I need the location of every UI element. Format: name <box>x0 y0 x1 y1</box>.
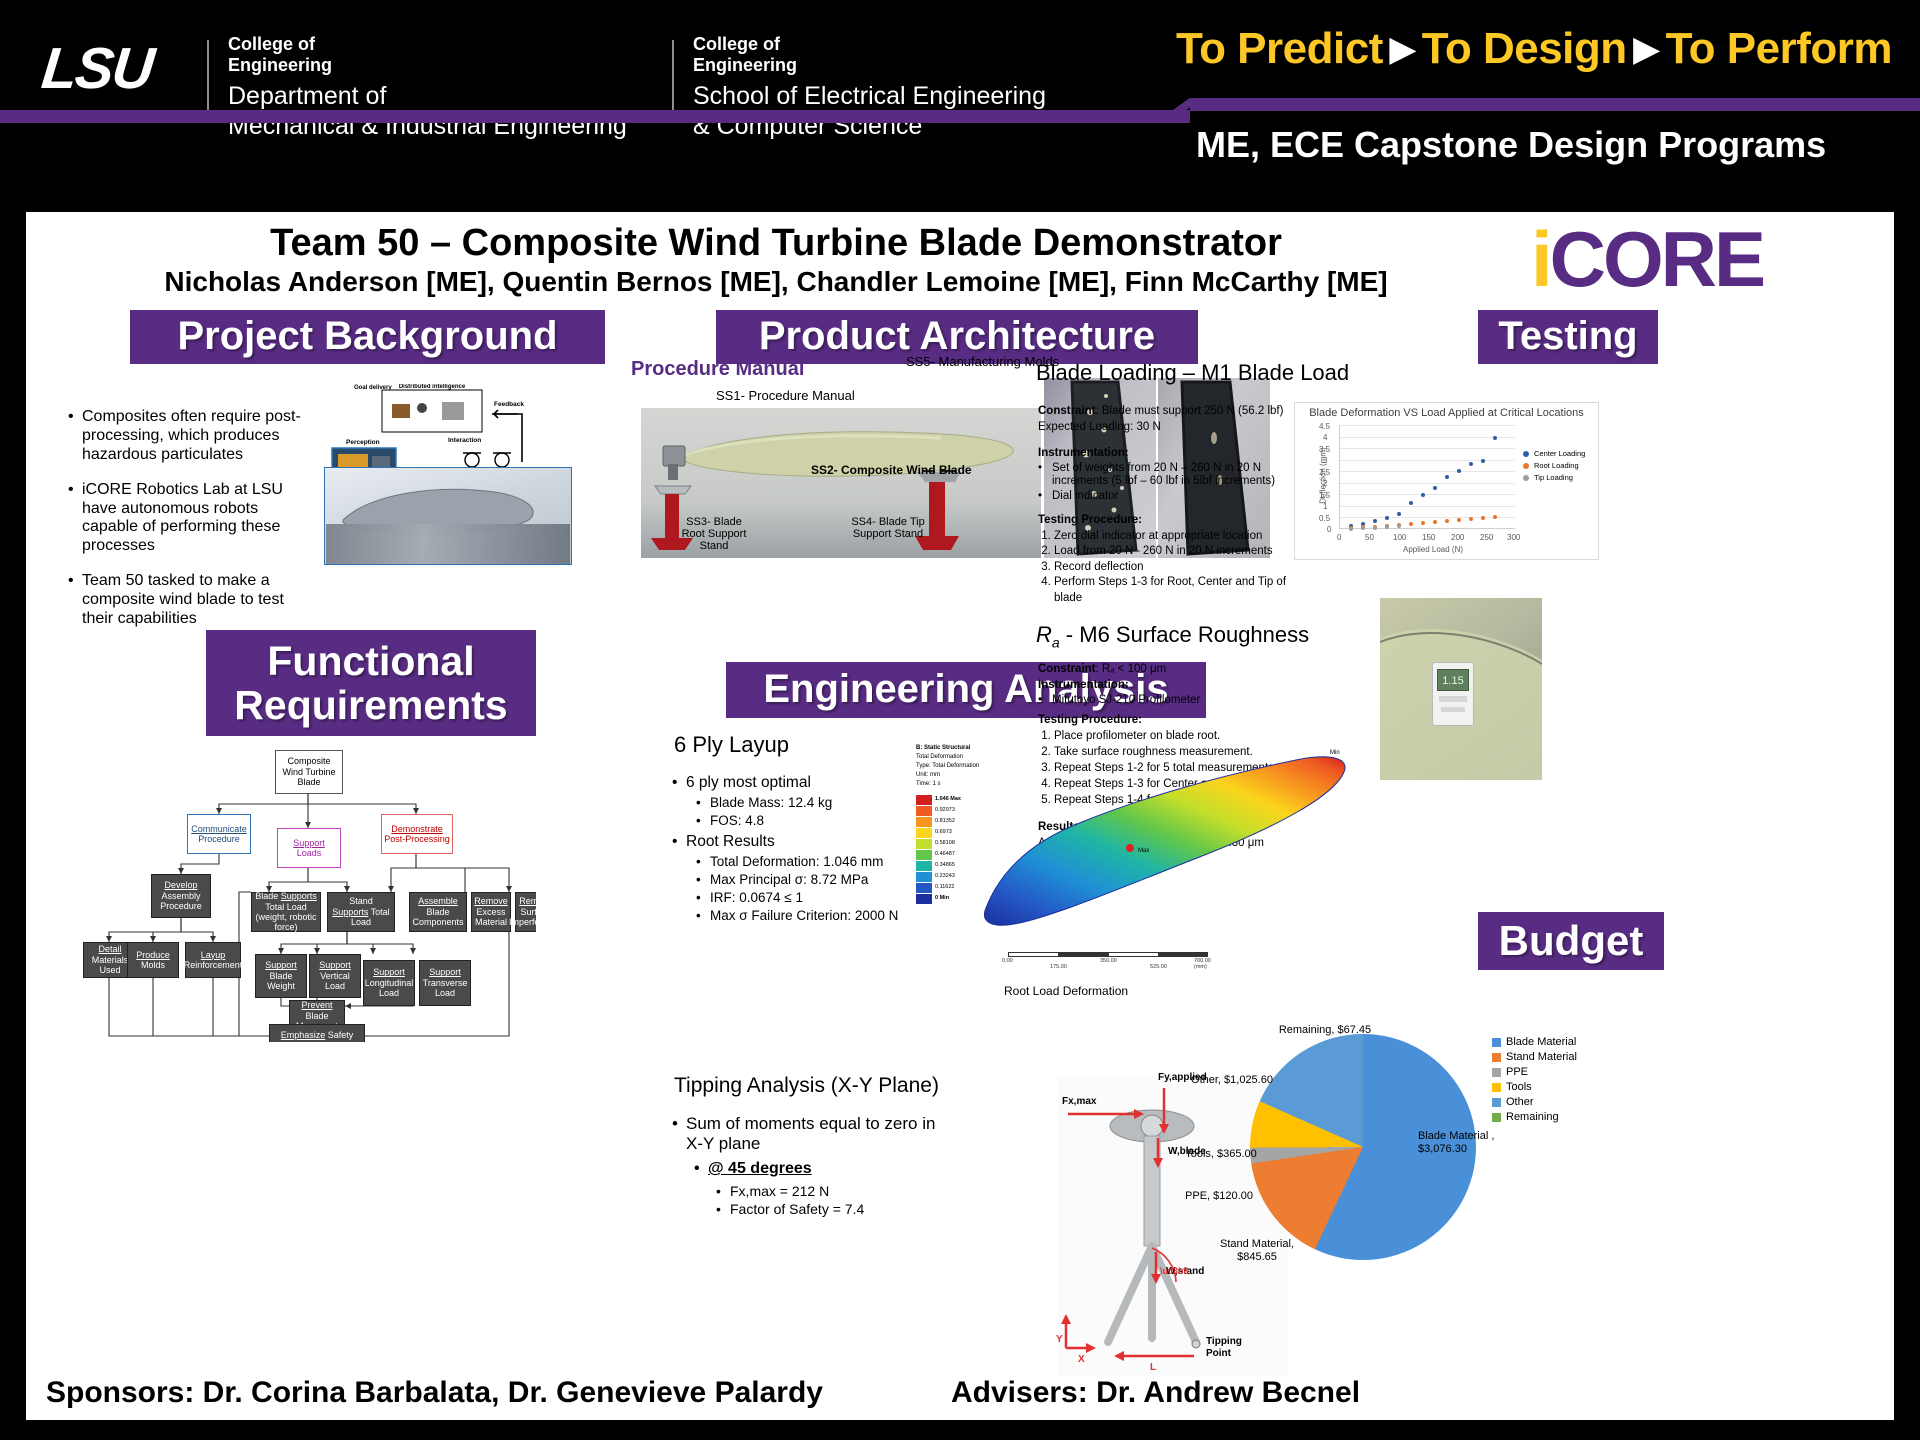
fr-root: Composite Wind Turbine Blade <box>275 750 343 794</box>
callout-ss2: SS2- Composite Wind Blade <box>811 463 972 477</box>
swatch-other <box>1492 1098 1501 1107</box>
fr-assemble-blade-components: Assemble Blade Components <box>409 892 467 932</box>
svg-text:Tipping: Tipping <box>1206 1336 1242 1347</box>
background-bullets: Composites often require post-processing… <box>68 408 318 645</box>
arrow-2-icon: ▶ <box>1627 30 1666 67</box>
procedure-manual-heading: Procedure Manual <box>631 358 804 381</box>
legend-swatch-root <box>1523 463 1529 469</box>
m1-proc-2: Load from 20 N– 260 N in 20 N increments <box>1054 544 1288 560</box>
deformation-ylabel: Deflection (mm) <box>1319 436 1328 516</box>
section-header-functional-requirements: Functional Requirements <box>206 630 536 736</box>
tipping-bullet-2: @ 45 degrees <box>694 1160 942 1179</box>
background-bullet-3: Team 50 tasked to make a composite wind … <box>68 572 318 629</box>
deformation-xlabel: Applied Load (N) <box>1403 545 1463 554</box>
fr-stand-supports-total-load: Stand Supports Total Load <box>327 892 395 932</box>
svg-text:X: X <box>1078 1354 1085 1365</box>
root-sub-3: IRF: 0.0674 ≤ 1 <box>696 890 922 906</box>
m6-instrumentation-label: Instrumentation: <box>1038 678 1348 694</box>
lsu-logo: LSU <box>39 38 198 100</box>
dept-mie-dept: Department of <box>228 81 627 111</box>
xtick-300: 300 <box>1507 533 1520 542</box>
icore-core: CORE <box>1550 215 1763 303</box>
section-header-testing: Testing <box>1478 310 1658 364</box>
dept-mie-block: College of Engineering Department of Mec… <box>228 34 627 141</box>
tagline: To Predict▶To Design▶To Perform <box>1176 24 1892 74</box>
page-title: Team 50 – Composite Wind Turbine Blade D… <box>26 222 1526 265</box>
fea-axis-bar: 0.00 175.00 350.00 525.00 700.00 (mm) <box>1008 952 1208 971</box>
tagline-design: To Design <box>1422 24 1627 73</box>
fea-caption: Root Load Deformation <box>1004 984 1128 998</box>
fr-remove-excess-material: Remove Excess Material <box>471 892 511 932</box>
fea-scale-5: 0.46487 <box>935 849 955 860</box>
tipping-title: Tipping Analysis (X-Y Plane) <box>674 1074 939 1098</box>
ytick-4-5: 4.5 <box>1319 422 1330 431</box>
section-header-budget: Budget <box>1478 912 1664 970</box>
legend-label-tip: Tip Loading <box>1534 473 1573 482</box>
fea-axis-3: 525.00 <box>1150 964 1167 970</box>
layup-bullet-2: Root Results <box>672 833 922 851</box>
root-sub-1: Total Deformation: 1.046 mm <box>696 854 922 870</box>
budget-legend-stand: Stand Material <box>1492 1051 1577 1063</box>
svg-text:Goal delivery: Goal delivery <box>354 385 392 391</box>
fea-scale-1: 0.92973 <box>935 805 955 816</box>
budget-legend-ppe: PPE <box>1492 1066 1577 1078</box>
root-sub-2: Max Principal σ: 8.72 MPa <box>696 872 922 888</box>
fea-axis-2: 350.00 <box>1100 958 1117 964</box>
fea-scale-9: 0 Min <box>935 893 949 904</box>
budget-legend: Blade Material Stand Material PPE Tools … <box>1492 1036 1577 1126</box>
fea-header: B: Static Structural Total Deformation T… <box>916 744 982 789</box>
fr-blade-supports-total-load: Blade Supports Total Load (weight, robot… <box>251 892 321 932</box>
profilometer-photo: 1.15 <box>1380 598 1542 780</box>
fea-blade-mesh: Max Min <box>978 722 1364 952</box>
m1-constraint-label: Constraint <box>1038 405 1096 417</box>
poster-root: LSU College of Engineering Department of… <box>0 0 1920 1440</box>
layup-bullet-1: 6 ply most optimal <box>672 774 922 792</box>
dept-eecs-block: College of Engineering School of Electri… <box>693 34 1046 141</box>
pie-label-ppe: PPE, $120.00 <box>1186 1190 1264 1203</box>
legend-item-center: Center Loading <box>1523 449 1585 458</box>
dept-eecs-college: College of <box>693 34 1046 55</box>
pie-label-stand-material: Stand Material, $845.65 <box>1202 1238 1312 1263</box>
svg-text:Perception: Perception <box>346 439 380 446</box>
svg-text:Max: Max <box>1138 848 1149 854</box>
xtick-250: 250 <box>1480 533 1493 542</box>
m1-proc-4: Perform Steps 1-3 for Root, Center and T… <box>1054 575 1288 606</box>
section-header-project-background: Project Background <box>130 310 605 364</box>
fea-header-1: B: Static Structural <box>916 744 982 753</box>
m1-constraint-text: : Blade must support 250 N (56.2 lbf) <box>1096 405 1284 417</box>
callout-ss3: SS3- Blade Root Support Stand <box>677 516 751 552</box>
capstone-title: ME, ECE Capstone Design Programs <box>1196 124 1826 166</box>
deformation-legend: Center Loading Root Loading Tip Loading <box>1523 449 1585 485</box>
swatch-stand-material <box>1492 1053 1501 1062</box>
m6-title-sub: a <box>1052 634 1060 650</box>
legend-item-tip: Tip Loading <box>1523 473 1585 482</box>
background-bullet-1: Composites often require post-processing… <box>68 408 318 465</box>
m6-instr-1: Mitutoyo SJ-210 Profilometer <box>1038 694 1348 708</box>
svg-text:L: L <box>1150 1362 1156 1373</box>
pie-label-other: Other, $1,025.60 <box>1186 1074 1284 1087</box>
fea-color-scale: 1.046 Max 0.92973 0.81352 0.6973 0.58108… <box>916 794 982 904</box>
tipping-angle: @ 45 degrees <box>708 1160 812 1177</box>
arrow-1-icon: ▶ <box>1383 30 1422 67</box>
m1-instr-2: Dial indicator <box>1038 490 1288 504</box>
advisers-text: Advisers: Dr. Andrew Becnel <box>951 1376 1360 1410</box>
blade-on-stands-photo: SS2- Composite Wind Blade SS3- Blade Roo… <box>641 408 1041 558</box>
fr-communicate-procedure: CommunicateProcedure <box>187 814 251 854</box>
profilometer-display: 1.15 <box>1437 669 1469 691</box>
fr-line1: Functional <box>267 639 474 683</box>
callout-ss1: SS1- Procedure Manual <box>716 388 855 403</box>
dept-mie-engineering: Engineering <box>228 55 627 76</box>
pie-label-remaining: Remaining, $67.45 <box>1270 1024 1380 1037</box>
m1-instrumentation-label: Instrumentation: <box>1038 446 1288 462</box>
functional-requirements-diagram: Composite Wind Turbine Blade Communicate… <box>61 742 536 1042</box>
tagline-predict: To Predict <box>1176 24 1383 73</box>
poster-body: Team 50 – Composite Wind Turbine Blade D… <box>26 212 1894 1420</box>
fr-support-transverse-load: Support Transverse Load <box>419 960 471 1006</box>
pie-label-tools: Tools, $365.00 <box>1186 1148 1266 1161</box>
header-divider-2 <box>672 40 674 110</box>
m1-title: Blade Loading – M1 Blade Load <box>1036 360 1349 386</box>
fr-line2: Requirements <box>234 683 507 727</box>
m6-title: Ra - M6 Surface Roughness <box>1036 622 1309 650</box>
fea-header-3: Type: Total Deformation <box>916 762 982 771</box>
tipping-sub-1: Fx,max = 212 N <box>716 1183 942 1200</box>
budget-legend-other: Other <box>1492 1096 1577 1108</box>
tipping-bullet-1: Sum of moments equal to zero in X-Y plan… <box>672 1114 942 1154</box>
svg-text:Point: Point <box>1206 1348 1232 1359</box>
root-sub-4: Max σ Failure Criterion: 2000 N <box>696 908 922 924</box>
layup-sub-1: Blade Mass: 12.4 kg <box>696 795 922 811</box>
svg-text:Fx,max: Fx,max <box>1062 1096 1097 1107</box>
fr-support-longitudinal-load: Support Longitudinal Load <box>363 960 415 1006</box>
m1-instr-1: Set of weights from 20 N – 260 N in 20 N… <box>1038 462 1288 489</box>
svg-text:\u03b8: \u03b8 <box>1160 1266 1189 1276</box>
fea-scale-2: 0.81352 <box>935 816 955 827</box>
fea-axis-4: 700.00 (mm) <box>1194 958 1211 970</box>
m1-proc-1: Zero dial indicator at appropriate locat… <box>1054 529 1288 545</box>
swatch-remaining <box>1492 1113 1501 1122</box>
m1-body: Constraint: Blade must support 250 N (56… <box>1038 404 1288 606</box>
fr-demonstrate-post-processing: DemonstratePost-Processing <box>381 814 453 854</box>
svg-text:Y: Y <box>1056 1334 1063 1345</box>
legend-label-center: Center Loading <box>1534 449 1585 458</box>
xtick-50: 50 <box>1365 533 1374 542</box>
purple-bar-right <box>1190 98 1920 111</box>
budget-chart: Blade Material , $3,076.30 Stand Materia… <box>1186 982 1606 1322</box>
icore-logo: iCORE <box>1531 220 1763 298</box>
pie-label-blade-material: Blade Material , $3,076.30 <box>1418 1130 1528 1155</box>
layup-bullets: 6 ply most optimal Blade Mass: 12.4 kg F… <box>672 774 922 926</box>
m6-title-rest: - M6 Surface Roughness <box>1060 622 1309 647</box>
icore-i: i <box>1531 215 1550 303</box>
fea-header-5: Time: 1 s <box>916 780 982 789</box>
legend-item-root: Root Loading <box>1523 461 1585 470</box>
xtick-200: 200 <box>1451 533 1464 542</box>
m6-constraint-line: Constraint: Rₐ < 100 μm <box>1038 662 1348 678</box>
fr-support-loads: SupportLoads <box>277 828 341 868</box>
fr-develop-assembly-procedure: DevelopAssemblyProcedure <box>151 874 211 918</box>
dept-mie-college: College of <box>228 34 627 55</box>
m1-expected: Expected Loading: 30 N <box>1038 420 1288 436</box>
author-list: Nicholas Anderson [ME], Quentin Bernos [… <box>26 266 1526 298</box>
fr-layup-reinforcement: Layup Reinforcement <box>185 942 241 978</box>
deformation-plot-area <box>1339 425 1515 529</box>
purple-bar-left <box>0 110 1190 123</box>
background-bullet-2: iCORE Robotics Lab at LSU have autonomou… <box>68 481 318 557</box>
deformation-chart: Blade Deformation VS Load Applied at Cri… <box>1294 402 1599 560</box>
fea-scale-6: 0.34865 <box>935 860 955 871</box>
ytick-0: 0 <box>1327 525 1331 534</box>
sponsors-text: Sponsors: Dr. Corina Barbalata, Dr. Gene… <box>46 1376 823 1410</box>
budget-legend-blade: Blade Material <box>1492 1036 1577 1048</box>
m1-constraint-line: Constraint: Blade must support 250 N (56… <box>1038 404 1288 420</box>
m1-procedure-label: Testing Procedure: <box>1038 513 1288 529</box>
manufacturing-photo <box>326 450 570 564</box>
fr-remove-surface-imperfections: Remove Surface Imperfections <box>515 892 536 932</box>
fea-header-2: Total Deformation <box>916 753 982 762</box>
fea-scale-3: 0.6973 <box>935 827 952 838</box>
swatch-blade-material <box>1492 1038 1501 1047</box>
m1-proc-3: Record deflection <box>1054 560 1288 576</box>
fea-axis-1: 175.00 <box>1050 964 1067 970</box>
fr-support-vertical-load: SupportVertical Load <box>309 954 361 998</box>
fr-emphasize-safety: Emphasize Safety <box>269 1024 365 1042</box>
dept-eecs-engineering: Engineering <box>693 55 1046 76</box>
fr-support-blade-weight: Support Blade Weight <box>255 954 307 998</box>
svg-text:Interaction: Interaction <box>448 437 481 444</box>
m6-title-ra: R <box>1036 622 1052 647</box>
xtick-150: 150 <box>1422 533 1435 542</box>
budget-legend-remaining: Remaining <box>1492 1111 1577 1123</box>
swatch-tools <box>1492 1083 1501 1092</box>
xtick-0: 0 <box>1337 533 1341 542</box>
budget-legend-tools: Tools <box>1492 1081 1577 1093</box>
xtick-100: 100 <box>1393 533 1406 542</box>
callout-ss4: SS4- Blade Tip Support Stand <box>851 516 925 540</box>
fea-header-4: Unit: mm <box>916 771 982 780</box>
m6-constraint-text: : Rₐ < 100 μm <box>1096 663 1167 675</box>
tipping-sub-2: Factor of Safety = 7.4 <box>716 1201 942 1218</box>
svg-text:Distributed intelligence: Distributed intelligence <box>399 384 466 390</box>
svg-text:Min: Min <box>1330 750 1340 756</box>
tipping-bullets: Sum of moments equal to zero in X-Y plan… <box>672 1114 942 1220</box>
layup-title: 6 Ply Layup <box>674 732 789 758</box>
fr-produce-molds: ProduceMolds <box>127 942 179 978</box>
tagline-perform: To Perform <box>1666 24 1892 73</box>
fea-scale-4: 0.58108 <box>935 838 955 849</box>
fea-axis-0: 0.00 <box>1002 958 1013 964</box>
swatch-ppe <box>1492 1068 1501 1077</box>
fea-scale-0: 1.046 Max <box>935 794 961 805</box>
legend-label-root: Root Loading <box>1534 461 1579 470</box>
m6-constraint-label: Constraint <box>1038 663 1096 675</box>
dept-eecs-school: School of Electrical Engineering <box>693 81 1046 111</box>
profilometer-device: 1.15 <box>1432 662 1474 726</box>
header-divider-1 <box>207 40 209 110</box>
poster-header: LSU College of Engineering Department of… <box>0 0 1920 210</box>
legend-swatch-center <box>1523 451 1529 457</box>
svg-text:Feedback: Feedback <box>494 401 524 408</box>
fea-scale-7: 0.23243 <box>935 871 955 882</box>
fea-scale-8: 0.11622 <box>935 882 954 893</box>
deformation-chart-title: Blade Deformation VS Load Applied at Cri… <box>1295 403 1598 419</box>
legend-swatch-tip <box>1523 475 1529 481</box>
layup-sub-2: FOS: 4.8 <box>696 813 922 829</box>
